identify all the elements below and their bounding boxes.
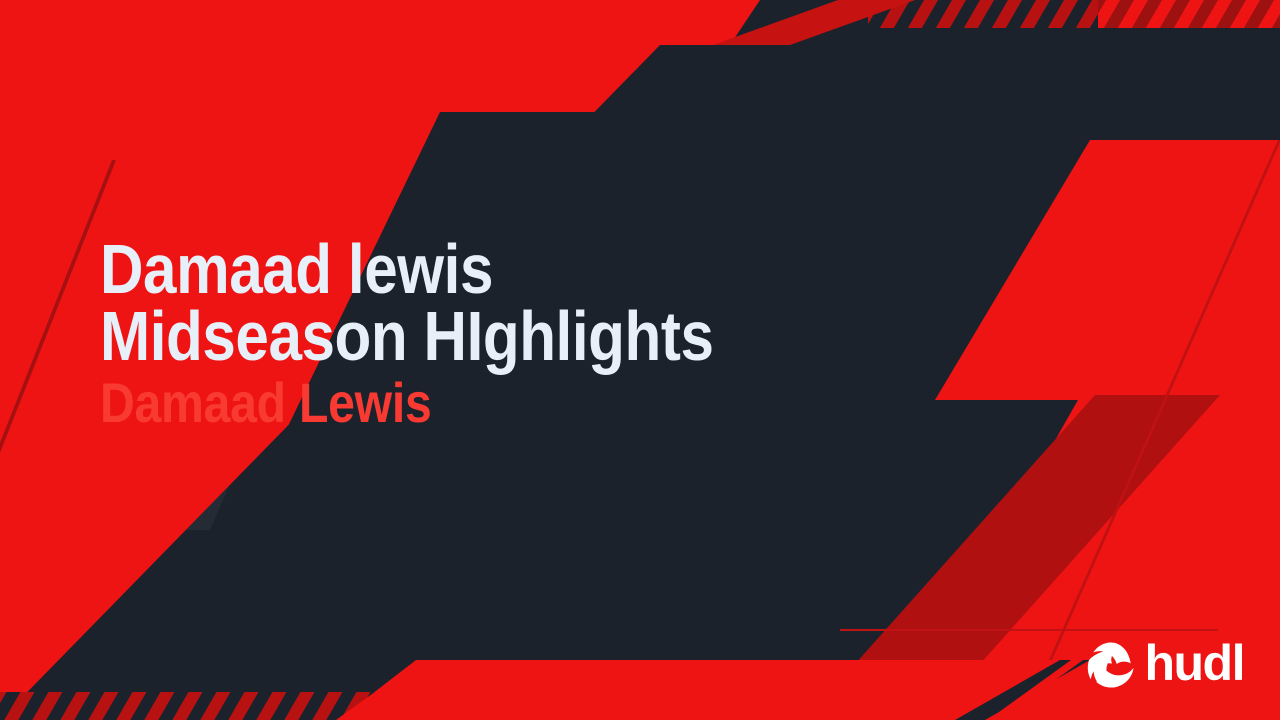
hazard-stripes-bottom-left: [0, 692, 372, 720]
athlete-name: Damaad Lewis: [100, 372, 874, 435]
hudl-wordmark: hudl: [1144, 638, 1244, 688]
title-line-1: Damaad lewis: [100, 236, 874, 303]
hazard-stripes-top-right: [868, 0, 1280, 28]
title-block: Damaad lewis Midseason HIghlights Damaad…: [100, 236, 1000, 435]
highlight-title-card: Damaad lewis Midseason HIghlights Damaad…: [0, 0, 1280, 720]
title-line-2: Midseason HIghlights: [100, 303, 874, 370]
hudl-pinwheel-icon: [1087, 641, 1135, 689]
red-hairline-horizontal: [840, 629, 1218, 631]
hudl-logo: hudl: [1087, 640, 1244, 690]
